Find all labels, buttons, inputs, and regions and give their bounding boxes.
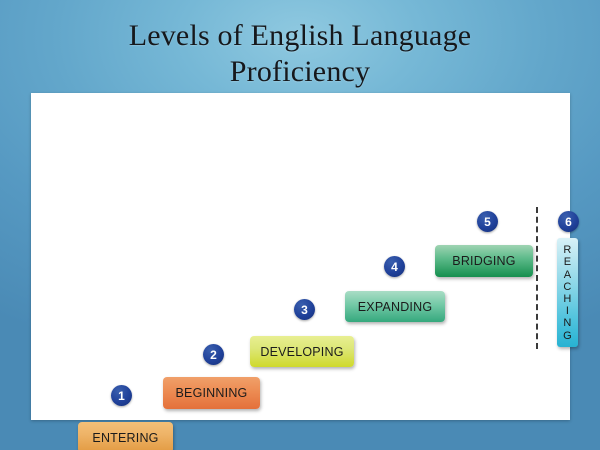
step-reaching-letter-e: E: [564, 256, 572, 268]
step-bridging-label: BRIDGING: [452, 254, 515, 268]
step-entering[interactable]: ENTERING: [78, 422, 173, 450]
step-expanding-label: EXPANDING: [358, 300, 433, 314]
step-badge-5: 5: [477, 211, 498, 232]
step-reaching-letter-r: R: [563, 244, 571, 256]
step-expanding[interactable]: EXPANDING: [345, 291, 445, 322]
content-panel: ENTERING BEGINNING DEVELOPING EXPANDING …: [31, 93, 570, 420]
step-reaching-letter-n: N: [563, 317, 571, 329]
step-reaching[interactable]: R E A C H I N G: [557, 238, 578, 347]
step-badge-3: 3: [294, 299, 315, 320]
step-reaching-letter-c: C: [563, 281, 571, 293]
step-entering-label: ENTERING: [92, 431, 158, 445]
step-beginning[interactable]: BEGINNING: [163, 377, 260, 409]
page-title: Levels of English Language Proficiency: [0, 18, 600, 90]
step-badge-2: 2: [203, 344, 224, 365]
step-beginning-label: BEGINNING: [176, 386, 248, 400]
step-reaching-letter-h: H: [563, 293, 571, 305]
step-bridging[interactable]: BRIDGING: [435, 245, 533, 277]
page-title-line-2: Proficiency: [0, 54, 600, 90]
step-badge-4: 4: [384, 256, 405, 277]
step-reaching-letter-i: I: [566, 305, 569, 317]
step-reaching-letter-a: A: [564, 269, 572, 281]
step-developing-label: DEVELOPING: [260, 345, 343, 359]
page-title-line-1: Levels of English Language: [129, 19, 472, 52]
step-badge-1: 1: [111, 385, 132, 406]
step-reaching-letter-g: G: [563, 330, 572, 342]
dashed-divider: [536, 207, 538, 349]
step-developing[interactable]: DEVELOPING: [250, 336, 354, 367]
step-badge-6: 6: [558, 211, 579, 232]
slide-background: Levels of English Language Proficiency E…: [0, 0, 600, 450]
